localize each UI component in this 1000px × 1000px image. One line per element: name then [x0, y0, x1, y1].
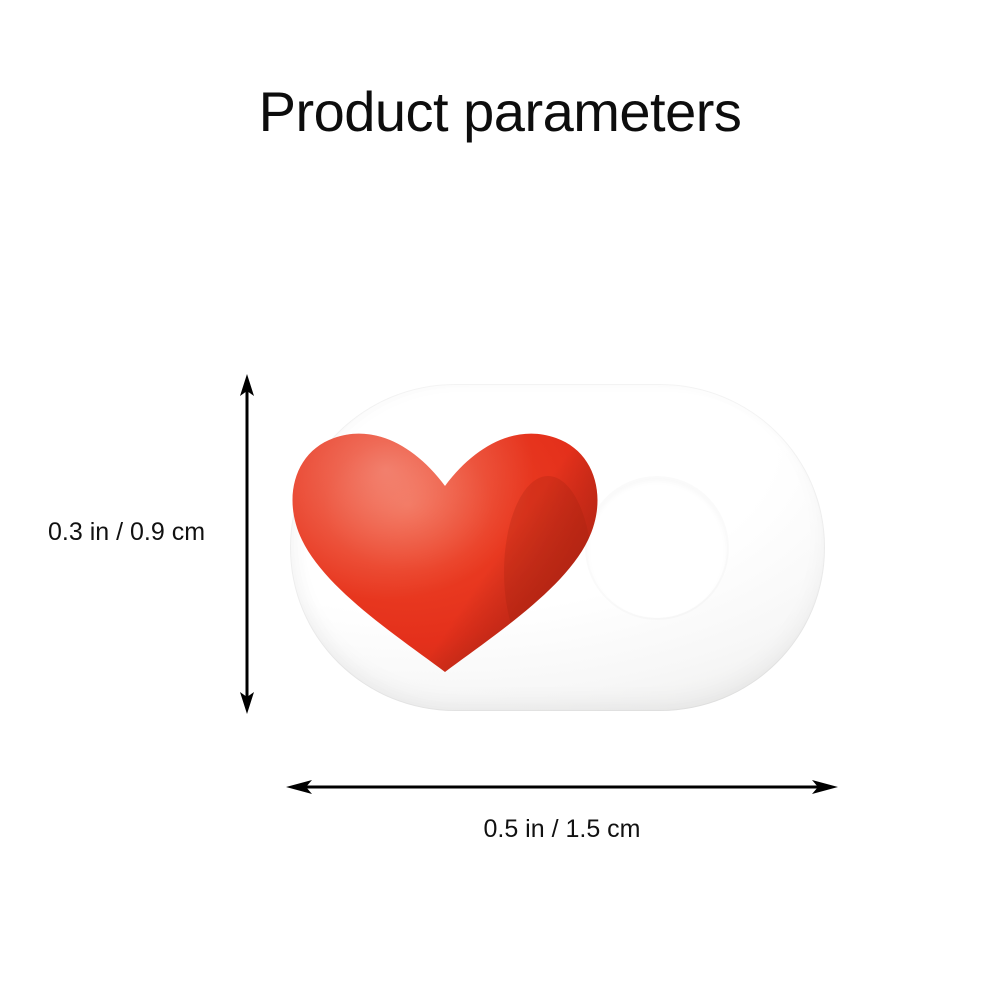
page-title: Product parameters — [0, 82, 1000, 142]
width-dimension-label: 0.5 in / 1.5 cm — [282, 814, 842, 844]
product-parameters-page: Product parameters — [0, 0, 1000, 1000]
product-image — [280, 370, 825, 715]
height-dimension-label: 0.3 in / 0.9 cm — [48, 517, 220, 547]
width-dimension-arrow — [282, 772, 842, 802]
red-heart-emblem — [280, 400, 610, 690]
height-dimension-arrow — [233, 372, 261, 716]
